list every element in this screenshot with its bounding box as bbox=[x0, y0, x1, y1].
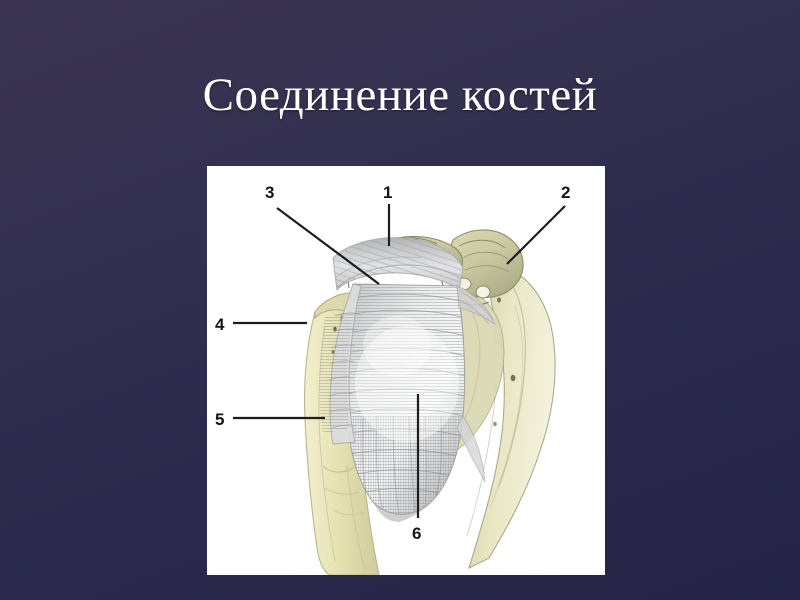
figure-label-6: 6 bbox=[412, 524, 421, 543]
figure-label-2: 2 bbox=[561, 183, 570, 202]
presentation-slide: Соединение костей bbox=[0, 0, 800, 600]
figure-label-1: 1 bbox=[383, 183, 392, 202]
page-title: Соединение костей bbox=[0, 66, 800, 124]
figure-panel: 1 2 3 4 5 6 bbox=[207, 166, 605, 575]
figure-label-4: 4 bbox=[215, 315, 225, 334]
figure-label-5: 5 bbox=[215, 410, 224, 429]
shoulder-joint-illustration: 1 2 3 4 5 6 bbox=[207, 166, 605, 575]
figure-label-3: 3 bbox=[265, 183, 274, 202]
